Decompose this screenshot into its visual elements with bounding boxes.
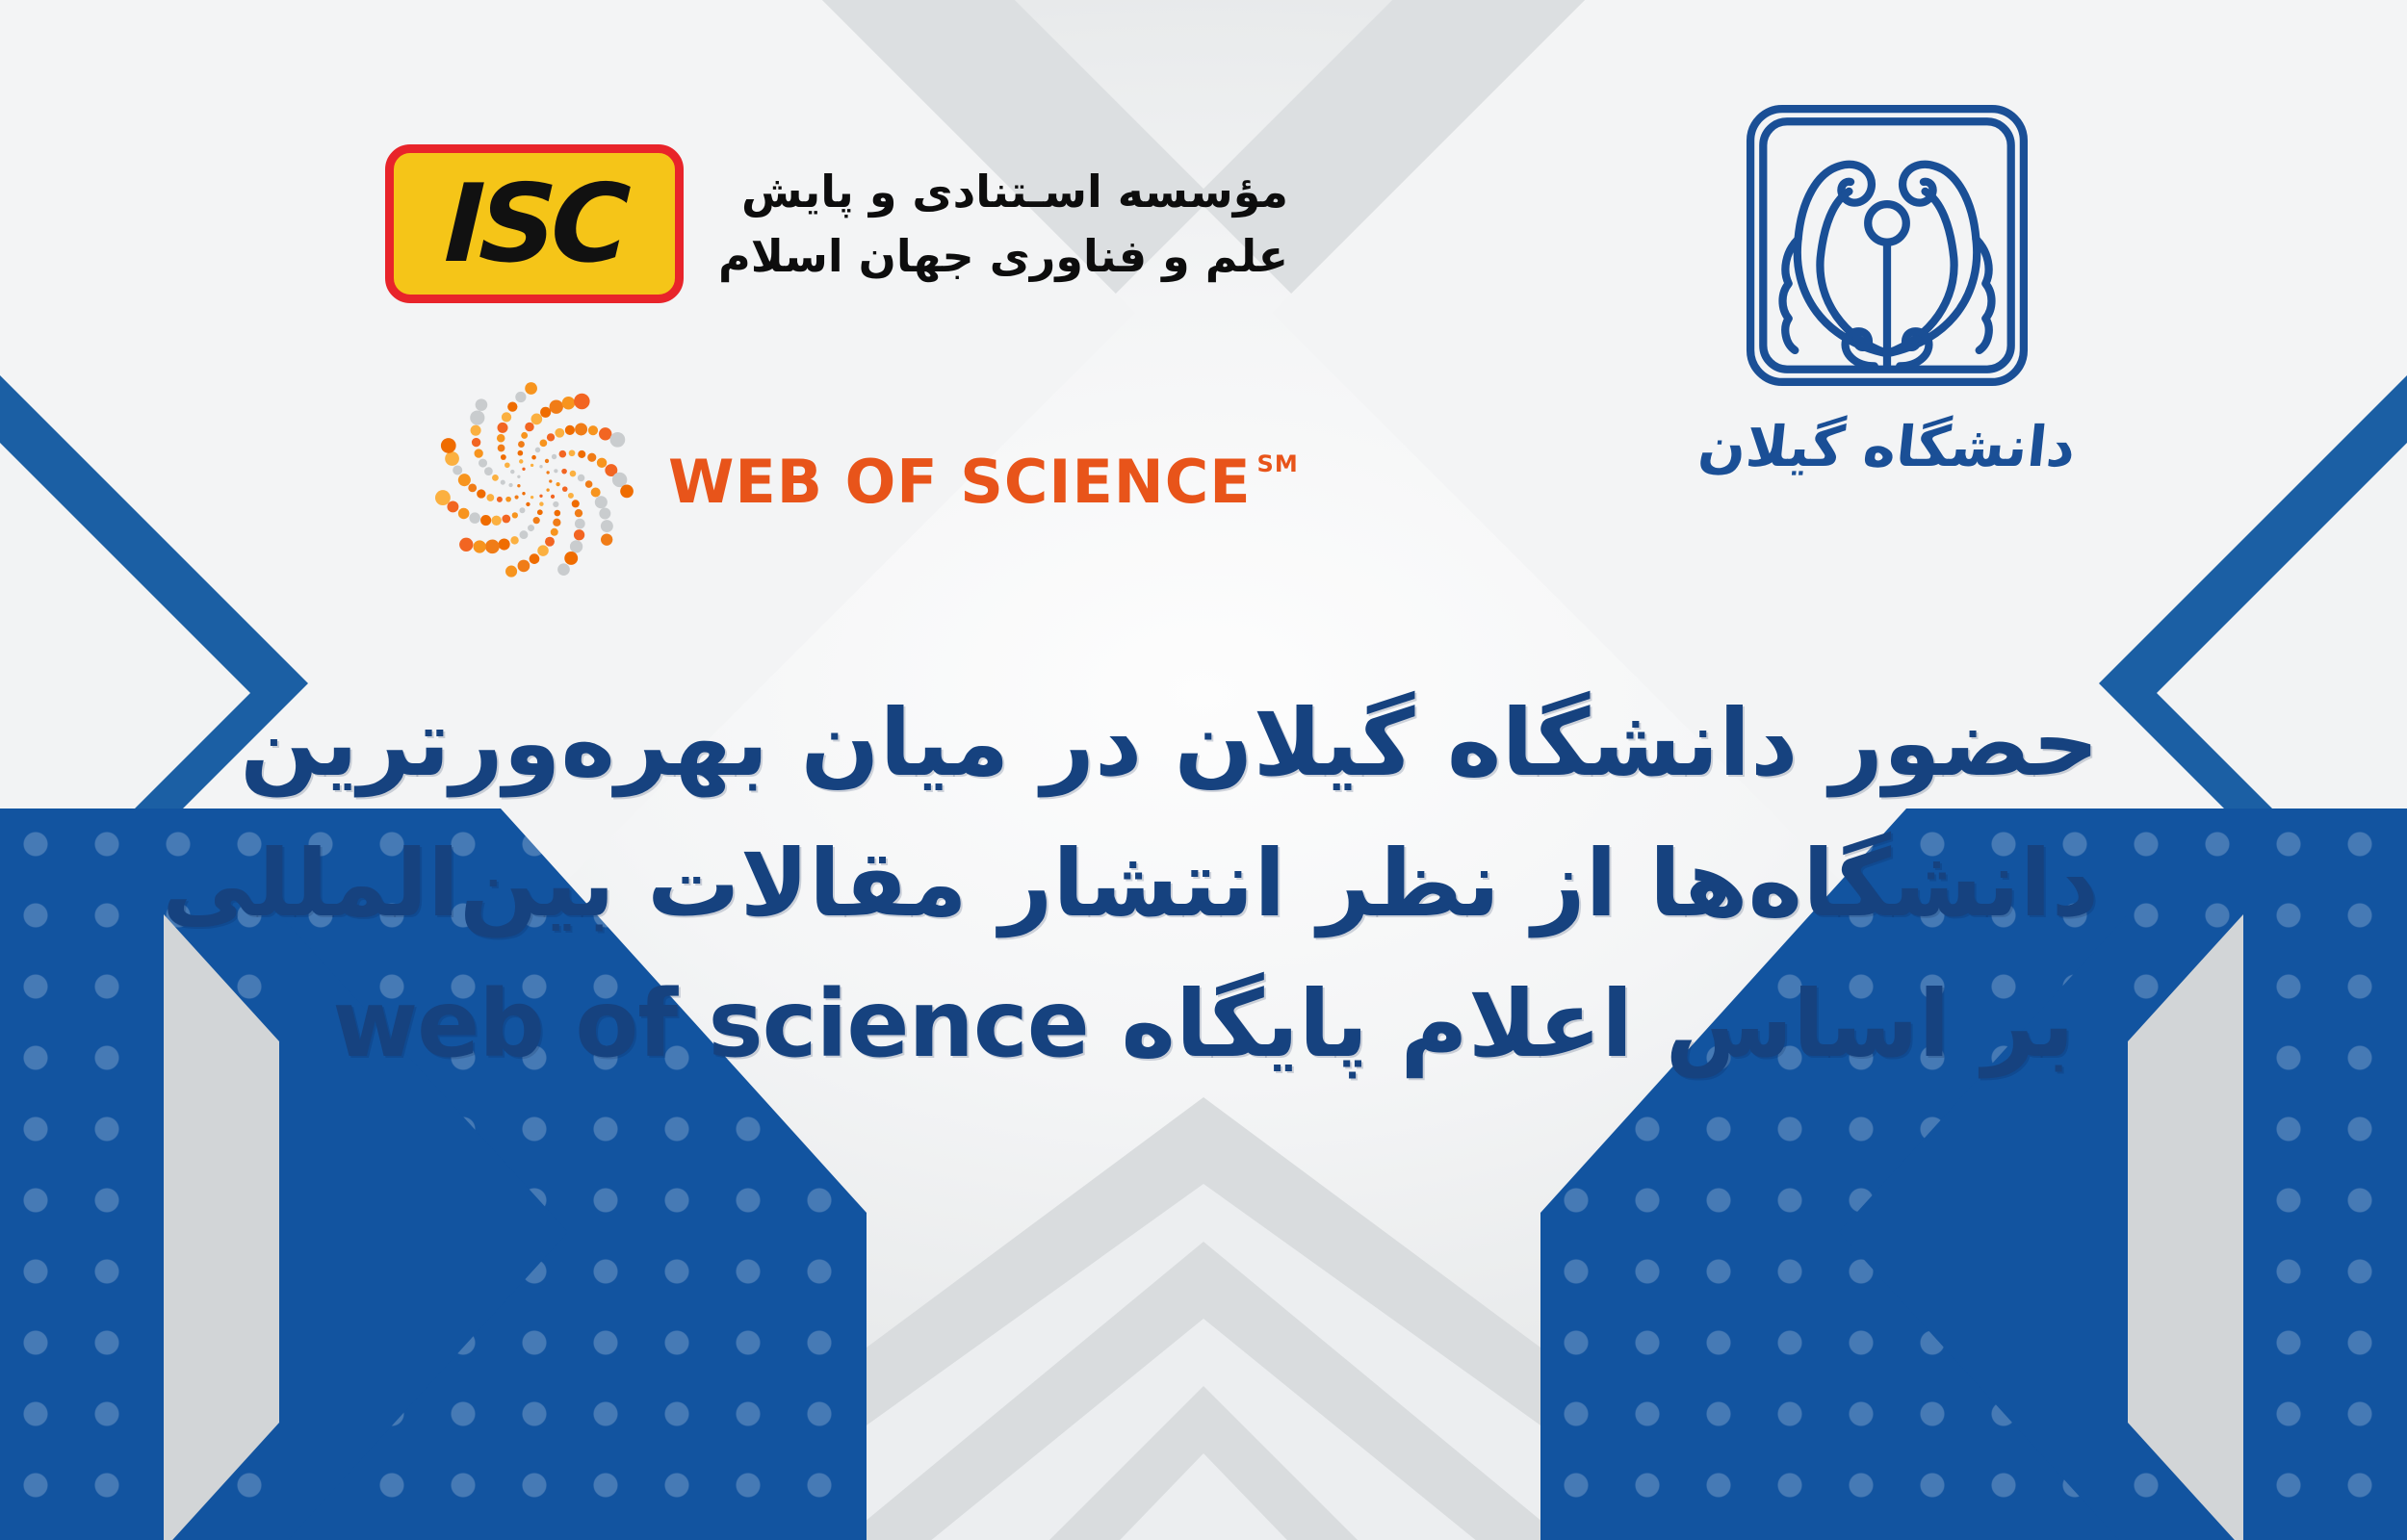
web-of-science-spiral-icon bbox=[433, 380, 635, 582]
isc-logo-line-1: مؤسسه اسـتنادی و پایش bbox=[718, 160, 1288, 224]
guilan-university-name: دانشگاه گیلان bbox=[1681, 414, 2092, 479]
page-title: حضور دانشگاه گیلان در میان بهره‌ورترین د… bbox=[0, 674, 2407, 1095]
headline-line-1: حضور دانشگاه گیلان در میان بهره‌ورترین bbox=[308, 674, 2099, 814]
isc-logo: مؤسسه اسـتنادی و پایش علم و فناوری جهان … bbox=[385, 144, 1288, 303]
headline-line-3-latin: web of science bbox=[332, 970, 1089, 1078]
headline-line-3: بر اساس اعلام پایگاه web of science bbox=[308, 955, 2099, 1095]
web-of-science-wordmark: WEB OF SCIENCE bbox=[668, 447, 1252, 517]
university-of-guilan-logo: دانشگاه گیلان bbox=[1685, 87, 2089, 479]
isc-mark-letters: ISC bbox=[443, 170, 626, 278]
service-mark-superscript: SM bbox=[1257, 450, 1299, 477]
web-of-science-logo: WEB OF SCIENCE SM bbox=[433, 380, 1299, 582]
isc-logo-line-2: علم و فناوری جهان اسلام bbox=[718, 224, 1288, 289]
guilan-emblem-icon bbox=[1728, 87, 2046, 404]
web-of-science-wordmark-group: WEB OF SCIENCE SM bbox=[668, 447, 1299, 517]
poster-content: مؤسسه اسـتنادی و پایش علم و فناوری جهان … bbox=[0, 0, 2407, 1540]
isc-logo-text: مؤسسه اسـتنادی و پایش علم و فناوری جهان … bbox=[718, 160, 1288, 288]
headline-line-3-rtl: بر اساس اعلام پایگاه bbox=[1121, 970, 2074, 1078]
headline-line-2: دانشگاه‌ها از نظر انتشار مقالات بین‌المل… bbox=[308, 814, 2099, 955]
isc-mark: ISC bbox=[385, 144, 684, 303]
poster-canvas: مؤسسه اسـتنادی و پایش علم و فناوری جهان … bbox=[0, 0, 2407, 1540]
